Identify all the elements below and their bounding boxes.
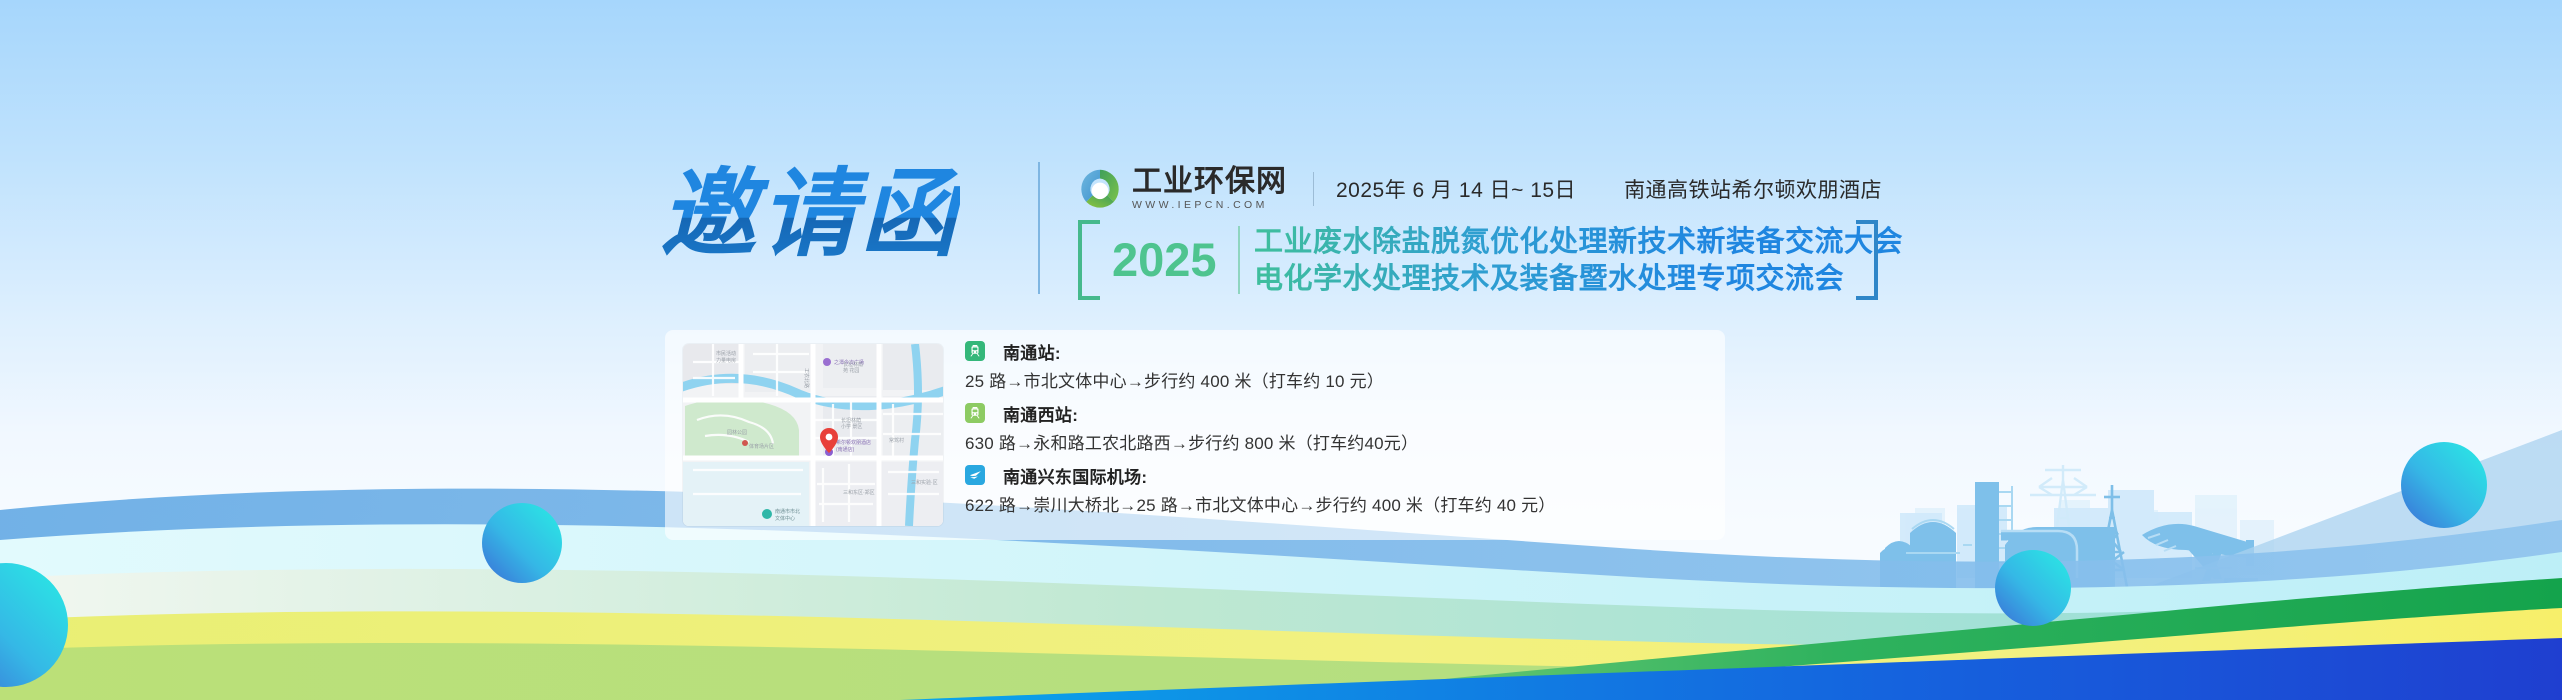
route-name: 南通兴东国际机场: [1003, 463, 1147, 488]
decor-sphere-mid [1995, 550, 2071, 626]
svg-text:三和实验·区: 三和实验·区 [911, 479, 938, 486]
list-item: 南通站: 25 路→市北文体中心→步行约 400 米（打车约 10 元） [965, 338, 1705, 392]
svg-text:之潭今次广场: 之潭今次广场 [834, 359, 864, 366]
header-vertical-divider [1038, 162, 1040, 294]
circular-swirl-logo-icon [1078, 167, 1122, 211]
brand-url: WWW.IEPCN.COM [1132, 199, 1287, 212]
decor-sphere-large-right [2401, 442, 2487, 528]
brand-name: 工业环保网 [1132, 166, 1287, 198]
svg-text:力量电房: 力量电房 [716, 357, 736, 364]
invitation-banner: 邀请函 [0, 0, 2562, 700]
event-venue: 南通高铁站希尔顿欢朋酒店 [1624, 174, 1882, 204]
conference-title-line-1: 工业废水除盐脱氮优化处理新技术新装备交流大会 [1254, 224, 1903, 261]
route-detail: 25 路→市北文体中心→步行约 400 米（打车约 10 元） [965, 367, 1705, 392]
transport-info-card: 市民活动 力量电房 长坦林荫 苑 花园 园林公园 体育场片区 长坦林荫 小学 景… [665, 330, 1725, 540]
svg-text:长坦林荫: 长坦林荫 [841, 417, 861, 424]
svg-text:三和东区·郑区: 三和东区·郑区 [843, 489, 875, 496]
venue-map-thumbnail[interactable]: 市民活动 力量电房 长坦林荫 苑 花园 园林公园 体育场片区 长坦林荫 小学 景… [683, 344, 943, 526]
conference-title-line-2: 电化学水处理技术及装备暨水处理专项交流会 [1254, 261, 1903, 298]
list-item: 南通兴东国际机场: 622 路→崇川大桥北→25 路→市北文体中心→步行约 40… [965, 462, 1705, 516]
conference-title-block: 2025 工业废水除盐脱氮优化处理新技术新装备交流大会 电化学水处理技术及装备暨… [1078, 220, 1878, 300]
svg-text:体育场片区: 体育场片区 [749, 443, 774, 450]
route-detail: 630 路→永和路工农北路西→步行约 800 米（打车约40元） [965, 429, 1705, 454]
svg-text:希尔顿欢朋酒店: 希尔顿欢朋酒店 [836, 439, 871, 446]
decor-sphere-small-left [482, 503, 562, 583]
event-year: 2025 [1112, 233, 1217, 287]
train-icon [965, 403, 985, 423]
year-title-divider [1238, 226, 1240, 294]
svg-text:市民活动: 市民活动 [716, 350, 736, 357]
train-icon [965, 341, 985, 361]
event-date: 2025年 6 月 14 日~ 15日 [1336, 174, 1576, 204]
svg-text:园林公园: 园林公园 [727, 429, 747, 436]
bracket-left-decor [1078, 220, 1100, 300]
svg-text:文体中心: 文体中心 [775, 515, 795, 522]
bracket-right-decor [1856, 220, 1878, 300]
header-block: 邀请函 [660, 160, 1940, 310]
svg-text:南通市市北: 南通市市北 [775, 508, 800, 515]
route-detail: 622 路→崇川大桥北→25 路→市北文体中心→步行约 400 米（打车约 40… [965, 491, 1705, 516]
svg-text:工农北路: 工农北路 [803, 368, 810, 388]
svg-text:苑 花园: 苑 花园 [843, 367, 859, 374]
page-title: 邀请函 [660, 160, 960, 270]
list-item: 南通西站: 630 路→永和路工农北路西→步行约 800 米（打车约40元） [965, 400, 1705, 454]
route-name: 南通西站: [1003, 401, 1078, 426]
airplane-icon [965, 465, 985, 485]
brand-row: 工业环保网 WWW.IEPCN.COM 2025年 6 月 14 日~ 15日 … [1078, 166, 1882, 212]
brand-divider [1313, 172, 1314, 206]
svg-text:小学 景区: 小学 景区 [841, 423, 862, 430]
route-name: 南通站: [1003, 339, 1061, 364]
route-list: 南通站: 25 路→市北文体中心→步行约 400 米（打车约 10 元） [965, 338, 1705, 524]
svg-text:(南通店): (南通店) [836, 446, 855, 453]
svg-text:常驾村: 常驾村 [889, 437, 904, 444]
